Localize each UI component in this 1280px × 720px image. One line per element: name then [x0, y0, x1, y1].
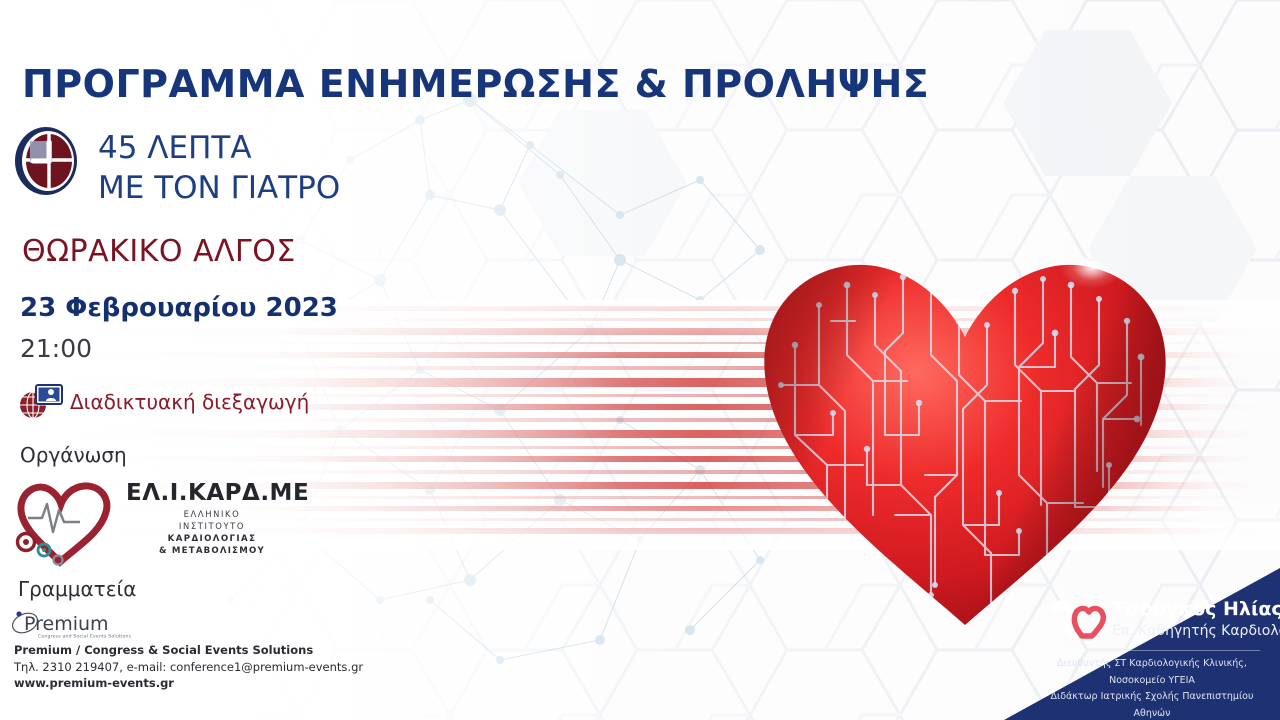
secretariat-label: Γραμματεία	[18, 577, 136, 601]
speaker-divider	[1042, 650, 1260, 651]
speaker-affiliation-line-1: Διευθυντής ΣΤ Καρδιολογικής Κλινικής, Νο…	[1032, 656, 1272, 689]
contact-line-2: Τηλ. 2310 219407, e-mail: conference1@pr…	[14, 659, 363, 676]
elikardmet-name-3: ΚΑΡΔΙΟΛΟΓΙΑΣ	[168, 534, 257, 544]
speaker-affiliation-line-2: Διδάκτωρ Ιατρικής Σχολής Πανεπιστημίου Α…	[1032, 689, 1272, 720]
organization-label: Οργάνωση	[20, 443, 127, 467]
speaker-role: Επ. Καθηγητής Καρδιολογίας	[1112, 623, 1280, 639]
contact-line-1: Premium / Congress & Social Events Solut…	[14, 642, 363, 659]
premium-tagline: Congress and Social Events Solutions	[38, 634, 132, 640]
speaker-panel: Τσούγκος Ηλίας Επ. Καθηγητής Καρδιολογία…	[960, 568, 1280, 720]
premium-logo: Premium Congress and Social Events Solut…	[8, 606, 156, 642]
secretariat-contact: Premium / Congress & Social Events Solut…	[14, 642, 363, 692]
heart-ecg-gears-icon	[18, 486, 107, 565]
subtitle-line-2: ΜΕ ΤΟΝ ΓΙΑΤΡΟ	[98, 168, 340, 208]
elikardmet-acronym: ΕΛ.Ι.ΚΑΡΔ.ΜΕΤ.	[126, 480, 308, 506]
event-subtitle: 45 ΛΕΠΤΑ ΜΕ ΤΟΝ ΓΙΑΤΡΟ	[98, 128, 340, 209]
elikardmet-logo: ΕΛ.Ι.ΚΑΡΔ.ΜΕΤ. ΕΛΛΗΝΙΚΟ ΙΝΣΤΙΤΟΥΤΟ ΚΑΡΔΙ…	[8, 470, 308, 570]
clock-icon	[12, 126, 80, 196]
poster-canvas: ΠΡΟΓΡΑΜΜΑ ΕΝΗΜΕΡΩΣΗΣ & ΠΡΟΛΗΨΗΣ 45 ΛΕΠΤΑ…	[0, 0, 1280, 720]
speaker-name: Τσούγκος Ηλίας	[1112, 598, 1280, 620]
subtitle-line-1: 45 ΛΕΠΤΑ	[98, 128, 340, 168]
online-event-label: Διαδικτυακή διεξαγωγή	[70, 390, 309, 414]
elikardmet-name-4: & ΜΕΤΑΒΟΛΙΣΜΟΥ	[159, 546, 265, 556]
t-heart-monogram-icon	[1052, 598, 1108, 642]
speaker-affiliation: Διευθυντής ΣΤ Καρδιολογικής Κλινικής, Νο…	[1032, 656, 1272, 720]
page-title: ΠΡΟΓΡΑΜΜΑ ΕΝΗΜΕΡΩΣΗΣ & ΠΡΟΛΗΨΗΣ	[22, 62, 929, 106]
event-time: 21:00	[20, 334, 92, 363]
elikardmet-name-2: ΙΝΣΤΙΤΟΥΤΟ	[179, 521, 245, 531]
event-date: 23 Φεβρουαρίου 2023	[20, 293, 338, 323]
elikardmet-name-1: ΕΛΛΗΝΙΚΟ	[184, 509, 241, 519]
premium-wordmark: Premium	[24, 613, 109, 635]
contact-line-3: www.premium-events.gr	[14, 675, 363, 692]
event-topic: ΘΩΡΑΚΙΚΟ ΑΛΓΟΣ	[22, 234, 296, 269]
globe-webinar-icon	[16, 382, 64, 420]
